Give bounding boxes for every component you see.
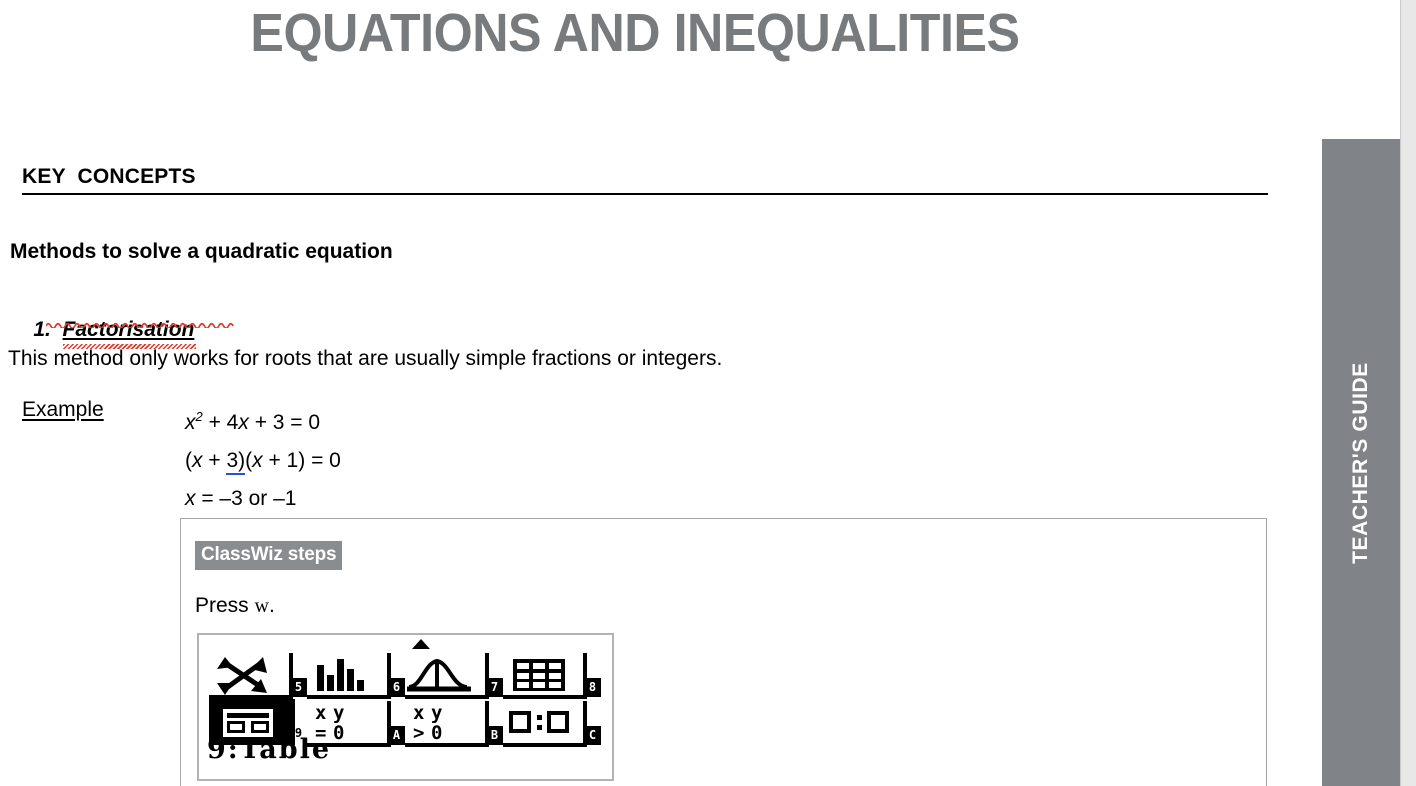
equation-text: + 1) = 0 <box>263 449 341 472</box>
menu-item-7[interactable]: 7 <box>405 653 503 699</box>
grammar-marked-text: 3) <box>226 449 245 475</box>
inequality-xy-greater-zero-icon: x y > 0 <box>405 701 483 745</box>
page-right-edge <box>1400 0 1416 786</box>
menu-cell-underline <box>405 695 489 699</box>
equation-text: = –3 or –1 <box>196 487 297 510</box>
distribution-curve-icon <box>405 653 483 697</box>
instruction-text: Press <box>195 594 255 617</box>
svg-text:y: y <box>333 702 344 724</box>
svg-text:>: > <box>413 722 424 744</box>
classwiz-instruction: Press w. <box>195 594 275 618</box>
instruction-text: . <box>269 594 275 617</box>
menu-key-C: C <box>584 726 601 745</box>
equation-line-3: x = –3 or –1 <box>185 480 341 518</box>
equation-variable: x <box>252 449 263 472</box>
menu-key-5: 5 <box>290 678 307 697</box>
menu-item-5[interactable]: 5 <box>209 653 307 699</box>
equation-text: + <box>203 449 227 472</box>
equation-line-1: x2 + 4x + 3 = 0 <box>185 398 341 442</box>
svg-text:y: y <box>431 702 442 724</box>
equation-variable: x <box>192 449 203 472</box>
menu-cell-underline <box>503 695 587 699</box>
menu-key-B: B <box>486 726 503 745</box>
menu-key-8: 8 <box>584 678 601 697</box>
equation-text: + 3 = 0 <box>249 411 320 434</box>
equation-text: ( <box>185 449 192 472</box>
document-page: EQUATIONS AND INEQUALITIES KEY CONCEPTS … <box>0 0 1400 786</box>
lcd-status-line: 9:Table <box>207 735 331 765</box>
svg-text:0: 0 <box>333 722 344 744</box>
equation-variable: x <box>185 411 196 434</box>
conversion-arrows-icon <box>209 653 287 697</box>
svg-text:x: x <box>315 702 326 724</box>
methods-subheading: Methods to solve a quadratic equation <box>10 240 393 264</box>
classwiz-steps-panel: ClassWiz steps Press w. <box>180 518 1267 786</box>
menu-cell-underline <box>503 743 587 747</box>
menu-item-B[interactable]: x y > 0 B <box>405 701 503 747</box>
equation-text: + 4 <box>203 411 239 434</box>
menu-item-6[interactable]: 6 <box>307 653 405 699</box>
equation-line-2: (x + 3)(x + 1) = 0 <box>185 442 341 480</box>
example-equations: x2 + 4x + 3 = 0 (x + 3)(x + 1) = 0 x = –… <box>185 398 341 518</box>
teachers-guide-tab[interactable]: TEACHER'S GUIDE <box>1322 139 1400 786</box>
classwiz-steps-badge: ClassWiz steps <box>195 541 342 570</box>
teachers-guide-tab-label: TEACHER'S GUIDE <box>1349 362 1373 564</box>
method-item-factorisation: 1. Factorisation <box>10 294 194 390</box>
heading-divider <box>22 193 1268 195</box>
svg-text:0: 0 <box>431 722 442 744</box>
key-concepts-heading: KEY CONCEPTS <box>22 165 196 189</box>
equation-variable: x <box>185 487 196 510</box>
menu-key-7: 7 <box>486 678 503 697</box>
menu-key-A: A <box>388 726 405 745</box>
example-label: Example <box>22 398 104 422</box>
intro-paragraph: This method only works for roots that ar… <box>8 347 722 371</box>
calculator-key-label: w <box>255 595 269 617</box>
scroll-up-indicator-icon <box>412 639 430 649</box>
spellcheck-squiggle-icon <box>46 321 234 328</box>
menu-item-8[interactable]: 8 <box>503 653 601 699</box>
menu-item-C[interactable]: C <box>503 701 601 747</box>
menu-cell-underline <box>405 743 489 747</box>
svg-text:x: x <box>413 702 424 724</box>
bar-chart-icon <box>307 653 385 697</box>
calculator-lcd-screen: 5 6 <box>197 633 614 781</box>
menu-key-6: 6 <box>388 678 405 697</box>
ratio-box-colon-box-icon <box>503 701 581 745</box>
equation-variable: x <box>238 411 249 434</box>
page-title: EQUATIONS AND INEQUALITIES <box>44 2 1225 64</box>
menu-cell-underline <box>307 695 391 699</box>
spreadsheet-grid-icon <box>503 653 581 697</box>
equation-exponent: 2 <box>196 409 203 424</box>
page-right-edge-line <box>1400 0 1401 786</box>
